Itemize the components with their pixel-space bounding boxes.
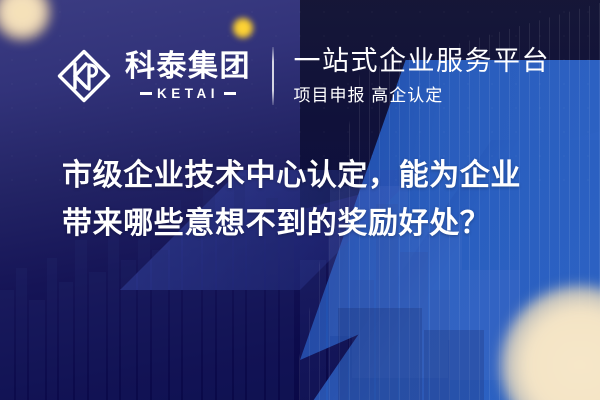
banner-header: 科泰集团 KETAI 一站式企业服务平台 项目申报 高企认定: [0, 38, 600, 114]
headline-line-2: 带来哪些意想不到的奖励好处？: [62, 200, 562, 248]
tagline-block: 一站式企业服务平台 项目申报 高企认定: [294, 46, 551, 106]
vertical-divider: [272, 47, 274, 105]
dash-left-icon: [140, 92, 152, 95]
dash-right-icon: [224, 92, 236, 95]
tagline-main: 一站式企业服务平台: [294, 46, 551, 77]
brand-lockup: 科泰集团 KETAI: [55, 47, 251, 105]
tagline-sub: 项目申报 高企认定: [294, 81, 551, 106]
brand-wordmark: 科泰集团 KETAI: [125, 51, 251, 101]
ketai-diamond-kd-emblem-icon: [55, 47, 113, 105]
brand-name-en: KETAI: [157, 86, 219, 101]
brand-name-en-row: KETAI: [140, 86, 236, 101]
promo-banner: 科泰集团 KETAI 一站式企业服务平台 项目申报 高企认定 市级企业技术中心认…: [0, 0, 600, 400]
headline-block: 市级企业技术中心认定，能为企业 带来哪些意想不到的奖励好处？: [62, 152, 562, 248]
headline-line-1: 市级企业技术中心认定，能为企业: [62, 152, 562, 200]
brand-name-cn: 科泰集团: [125, 51, 251, 83]
